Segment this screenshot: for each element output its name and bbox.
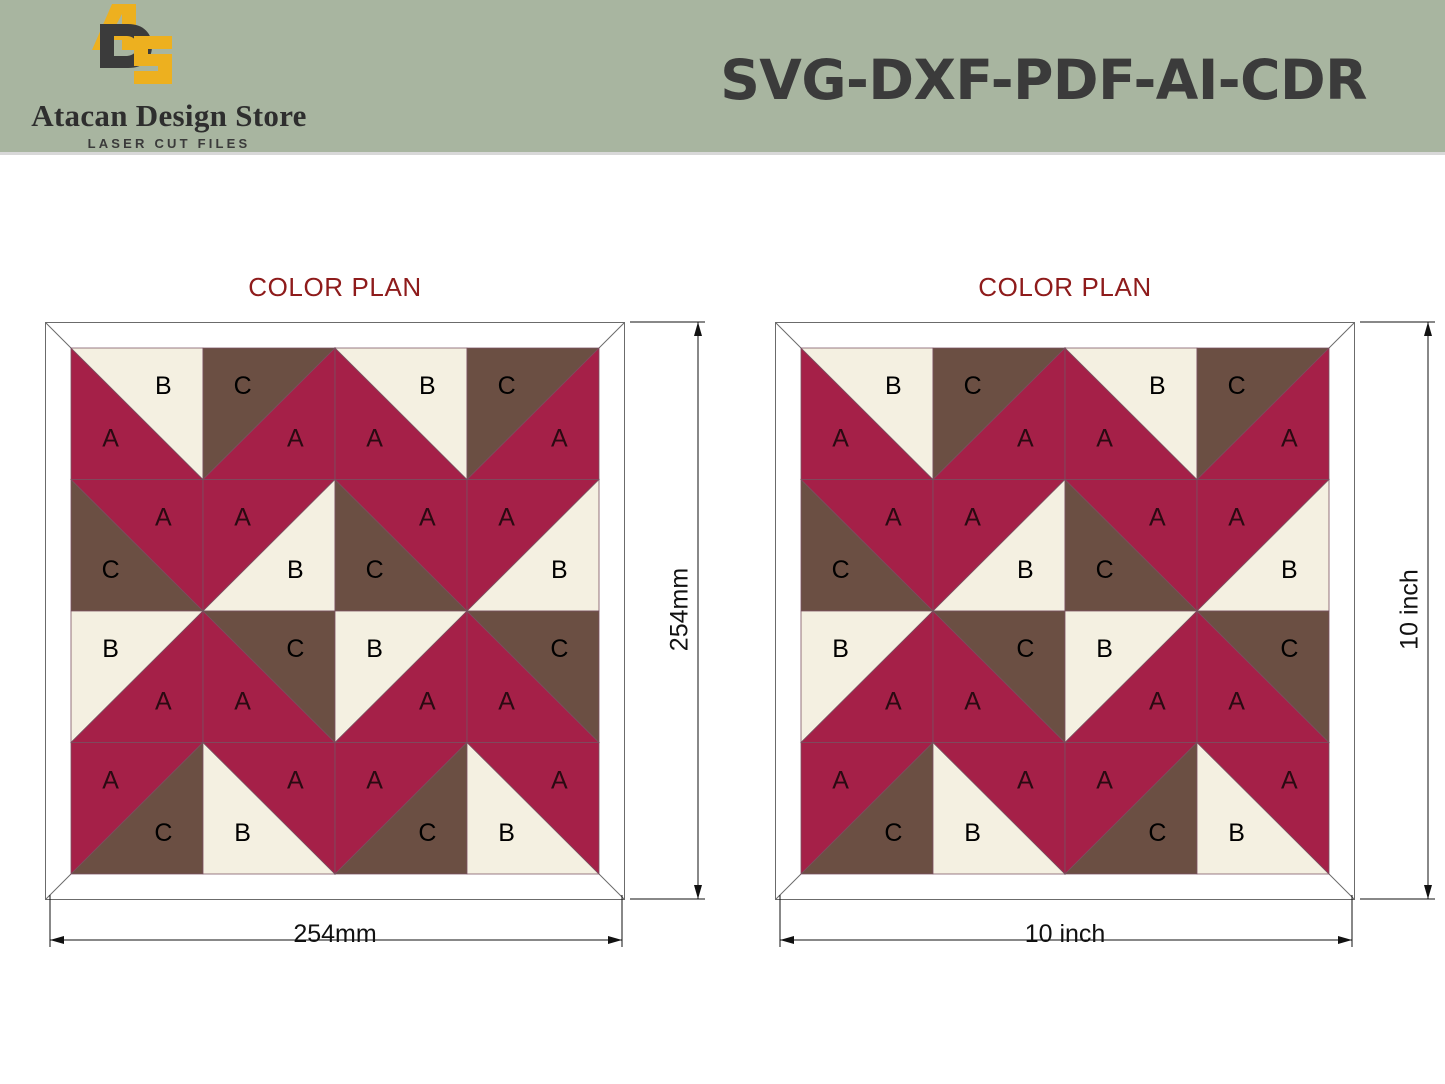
piece-label-a: A — [885, 504, 902, 532]
piece-label-a: A — [102, 425, 119, 453]
piece-label-a: A — [419, 688, 436, 716]
piece-label-a: A — [155, 688, 172, 716]
piece-label-b: B — [1149, 372, 1166, 400]
piece-label-a: A — [1096, 425, 1113, 453]
quilt-color-plan-diagram: ABCAABCACAABCAABBAACBAACACBAACBA — [45, 322, 625, 900]
width-dimension-label: 254mm — [45, 920, 625, 949]
piece-label-a: A — [832, 767, 849, 795]
quilt-color-plan-diagram: ABCAABCACAABCAABBAACBAACACBAACBA — [775, 322, 1355, 900]
piece-label-b: B — [1228, 819, 1245, 847]
piece-label-b: B — [885, 372, 902, 400]
piece-label-a: A — [498, 688, 515, 716]
piece-label-b: B — [1281, 556, 1298, 584]
piece-label-c: C — [154, 819, 172, 847]
height-dimension-label: 10 inch — [1396, 550, 1425, 670]
piece-label-c: C — [1016, 635, 1034, 663]
piece-label-a: A — [234, 688, 251, 716]
piece-label-b: B — [287, 556, 304, 584]
piece-label-a: A — [551, 767, 568, 795]
piece-label-a: A — [1017, 767, 1034, 795]
piece-label-b: B — [419, 372, 436, 400]
piece-label-c: C — [964, 372, 982, 400]
piece-label-a: A — [1228, 504, 1245, 532]
piece-label-a: A — [885, 688, 902, 716]
piece-label-b: B — [1096, 635, 1113, 663]
file-formats-label: SVG-DXF-PDF-AI-CDR — [720, 48, 1367, 112]
piece-label-a: A — [155, 504, 172, 532]
piece-label-c: C — [234, 372, 252, 400]
piece-label-a: A — [1228, 688, 1245, 716]
piece-label-a: A — [1096, 767, 1113, 795]
piece-label-a: A — [1149, 504, 1166, 532]
brand-name: Atacan Design Store — [4, 98, 334, 134]
piece-label-b: B — [234, 819, 251, 847]
piece-label-a: A — [419, 504, 436, 532]
piece-label-c: C — [832, 556, 850, 584]
brand-tagline: LASER CUT FILES — [4, 136, 334, 151]
header-divider — [0, 152, 1445, 155]
piece-label-c: C — [1280, 635, 1298, 663]
piece-label-b: B — [964, 819, 981, 847]
piece-label-a: A — [551, 425, 568, 453]
piece-label-a: A — [964, 688, 981, 716]
piece-label-b: B — [102, 635, 119, 663]
ads-logo-icon — [88, 2, 223, 94]
piece-label-a: A — [498, 504, 515, 532]
piece-label-c: C — [102, 556, 120, 584]
panel-title: COLOR PLAN — [45, 272, 625, 303]
piece-label-c: C — [1096, 556, 1114, 584]
piece-label-a: A — [234, 504, 251, 532]
piece-label-c: C — [884, 819, 902, 847]
piece-label-a: A — [1017, 425, 1034, 453]
piece-label-a: A — [1149, 688, 1166, 716]
piece-label-a: A — [1281, 767, 1298, 795]
piece-label-c: C — [286, 635, 304, 663]
piece-label-b: B — [155, 372, 172, 400]
header-band: Atacan Design Store LASER CUT FILES SVG-… — [0, 0, 1445, 155]
piece-label-a: A — [832, 425, 849, 453]
piece-label-c: C — [1228, 372, 1246, 400]
piece-label-a: A — [366, 767, 383, 795]
piece-label-c: C — [366, 556, 384, 584]
brand-logo: Atacan Design Store LASER CUT FILES — [0, 0, 340, 155]
width-dimension-label: 10 inch — [775, 920, 1355, 949]
piece-label-a: A — [287, 425, 304, 453]
piece-label-a: A — [366, 425, 383, 453]
piece-label-c: C — [550, 635, 568, 663]
piece-label-b: B — [366, 635, 383, 663]
panel-title: COLOR PLAN — [775, 272, 1355, 303]
piece-label-a: A — [964, 504, 981, 532]
piece-label-a: A — [287, 767, 304, 795]
piece-label-c: C — [418, 819, 436, 847]
height-dimension-label: 254mm — [666, 550, 695, 670]
piece-label-c: C — [498, 372, 516, 400]
piece-label-c: C — [1148, 819, 1166, 847]
piece-label-b: B — [1017, 556, 1034, 584]
piece-label-a: A — [102, 767, 119, 795]
piece-label-b: B — [832, 635, 849, 663]
piece-label-b: B — [551, 556, 568, 584]
piece-label-a: A — [1281, 425, 1298, 453]
piece-label-b: B — [498, 819, 515, 847]
